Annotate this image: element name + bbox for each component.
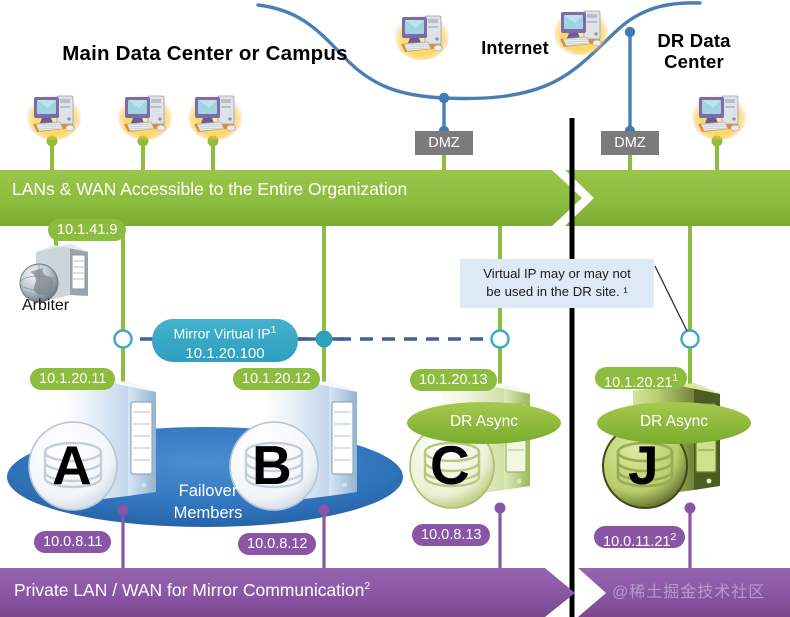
note-leader-line	[652, 262, 687, 331]
internet-label: Internet	[440, 38, 590, 59]
mirror-vip-title-text: Mirror Virtual IP	[174, 326, 271, 342]
virtual-ip-note: Virtual IP may or may not be used in the…	[460, 259, 654, 308]
server-c-private-ip: 10.0.8.13	[412, 524, 490, 546]
virtual-ip-note-line1: Virtual IP may or may not	[464, 265, 650, 283]
dmz-box-dr: DMZ	[601, 131, 659, 155]
private-lan-banner-label: Private LAN / WAN for Mirror Communicati…	[14, 580, 370, 601]
failover-line2: Members	[160, 502, 256, 524]
server-b-public-ip: 10.1.20.12	[233, 368, 320, 390]
mirror-virtual-ip-bubble: Mirror Virtual IP1 10.1.20.100	[152, 319, 298, 362]
server-j-role-label: DR Async	[604, 413, 744, 431]
private-lan-text: Private LAN / WAN for Mirror Communicati…	[14, 580, 364, 600]
private-lan-footnote: 2	[364, 580, 370, 592]
mirror-virtual-ip-address: 10.1.20.100	[152, 344, 298, 363]
server-j-public-ip: 10.1.20.211	[595, 367, 687, 389]
dr-site-title: DR Data Center	[626, 30, 762, 73]
lan-wan-banner-label: LANs & WAN Accessible to the Entire Orga…	[12, 179, 407, 200]
failover-line1: Failover	[160, 480, 256, 502]
diagram-canvas: Main Data Center or Campus Internet DR D…	[0, 0, 790, 617]
pc-icon-main-3	[188, 94, 242, 140]
server-a-public-ip: 10.1.20.11	[30, 368, 115, 390]
arbiter-icon	[20, 244, 88, 303]
watermark: @稀土掘金技术社区	[612, 578, 765, 602]
server-uplink-lines	[56, 226, 690, 390]
server-a-private-ip: 10.0.8.11	[34, 531, 111, 553]
pc-icon-main-1	[27, 94, 81, 140]
arbiter-ip-label: 10.1.41.9	[48, 219, 126, 241]
mirror-vip-footnote: 1	[271, 324, 277, 336]
server-j-private-ip-footnote: 2	[670, 531, 676, 543]
server-b-private-ip: 10.0.8.12	[238, 533, 316, 555]
diagram-vector-layer	[0, 0, 790, 617]
pc-icon-main-2	[118, 94, 172, 140]
virtual-ip-note-line2: be used in the DR site. ¹	[464, 283, 650, 301]
failover-members-label: Failover Members	[160, 480, 256, 524]
server-a-letter: A	[52, 438, 92, 493]
server-c-role-label: DR Async	[414, 413, 554, 431]
server-j-public-ip-text: 10.1.20.21	[604, 375, 673, 391]
dmz-box-main: DMZ	[415, 131, 473, 155]
main-site-title: Main Data Center or Campus	[40, 42, 370, 66]
pc-icon-dr	[692, 94, 746, 140]
server-c-letter: C	[430, 438, 470, 493]
server-j-private-ip-text: 10.0.11.21	[603, 534, 670, 550]
server-j-public-ip-footnote: 1	[673, 372, 679, 384]
server-c-public-ip: 10.1.20.13	[410, 369, 497, 391]
arbiter-name-label: Arbiter	[22, 297, 69, 315]
server-j-letter: J	[628, 438, 659, 493]
mirror-virtual-ip-title: Mirror Virtual IP1	[152, 321, 298, 344]
server-j-private-ip: 10.0.11.212	[594, 526, 685, 548]
server-b-letter: B	[252, 438, 292, 493]
